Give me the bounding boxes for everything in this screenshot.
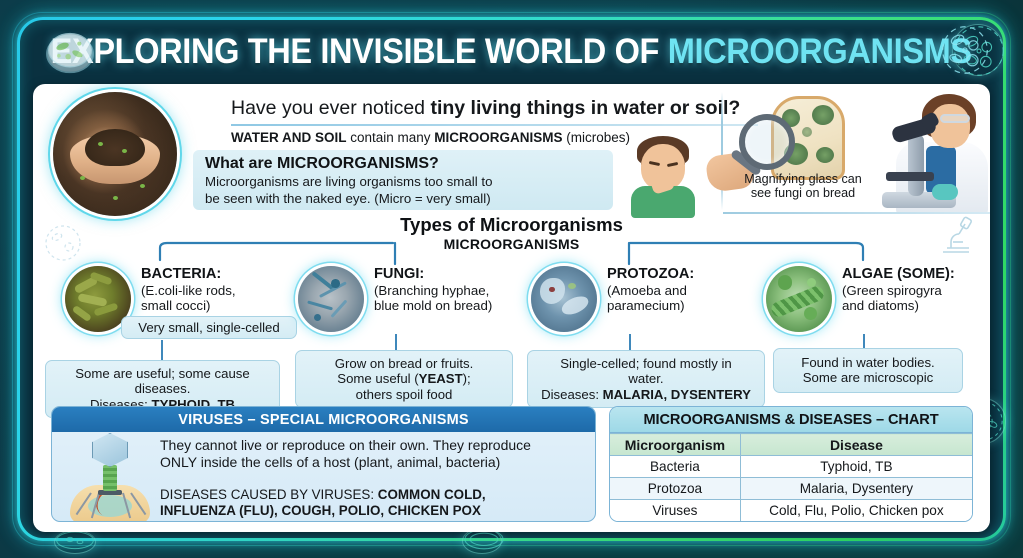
intro-sub-end: (microbes): [563, 130, 631, 145]
badge-bacteria: Very small, single-celled: [121, 316, 297, 339]
type-detail-fungi-l2: blue mold on bread): [374, 298, 549, 313]
hands-holding-soil-photo: [53, 92, 177, 216]
table-cell-organism: Viruses: [610, 500, 740, 522]
viruses-panel: VIRUSES – SPECIAL MICROORGANISMS They ca…: [51, 406, 596, 522]
diseases-chart-panel: MICROORGANISMS & DISEASES – CHART Microo…: [609, 406, 973, 522]
fact-bacteria-l1: Some are useful; some cause diseases.: [52, 366, 273, 397]
fungi-hyphae-circle-icon: [298, 266, 364, 332]
bacteriophage-icon: [70, 433, 150, 521]
magnifier-caption-line1: Magnifying glass can: [733, 172, 873, 186]
type-detail-algae-l2: and diatoms): [842, 298, 990, 313]
viruses-body-l1: They cannot live or reproduce on their o…: [160, 437, 588, 454]
viruses-diseases-text: DISEASES CAUSED BY VIRUSES: COMMON COLD,…: [160, 487, 590, 519]
type-detail-algae-l1: (Green spirogyra: [842, 283, 990, 298]
intro-question-plain: Have you ever noticed: [231, 97, 430, 119]
table-row: Viruses Cold, Flu, Polio, Chicken pox: [610, 500, 972, 522]
table-cell-disease: Typhoid, TB: [740, 456, 972, 478]
type-detail-protozoa-l2: paramecium): [607, 298, 782, 313]
what-box-line1: Microorganisms are living organisms too …: [205, 174, 601, 189]
fact-protozoa-l3: Diseases: MALARIA, DYSENTERY: [534, 387, 758, 402]
table-row: Protozoa Malaria, Dysentery: [610, 478, 972, 500]
table-header-microorganism: Microorganism: [610, 434, 740, 456]
fact-fungi-l3: others spoil food: [302, 387, 506, 402]
intro-sub-bold1: WATER AND SOIL: [231, 130, 347, 145]
viruses-diseases-l1: DISEASES CAUSED BY VIRUSES: COMMON COLD,: [160, 487, 590, 503]
type-detail-bacteria: (E.coli-like rods, small cocci): [141, 283, 316, 314]
fact-algae-l2: Some are microscopic: [780, 370, 956, 385]
intro-sub-bold2: MICROORGANISMS: [434, 130, 562, 145]
types-root-label: MICROORGANISMS: [33, 236, 990, 252]
fact-protozoa-l1: Single-celled; found mostly in: [534, 356, 758, 371]
what-are-microorganisms-box: What are MICROORGANISMS? Microorganisms …: [193, 150, 613, 210]
diseases-chart-table: Microorganism Disease Bacteria Typhoid, …: [610, 433, 972, 522]
table-cell-disease: Cold, Flu, Polio, Chicken pox: [740, 500, 972, 522]
table-header-row: Microorganism Disease: [610, 434, 972, 456]
chart-title: MICROORGANISMS & DISEASES – CHART: [610, 407, 972, 433]
algae-spirogyra-circle-icon: [766, 266, 832, 332]
fact-fungi-l1: Grow on bread or fruits.: [302, 356, 506, 371]
main-content-panel: Have you ever noticed tiny living things…: [33, 84, 990, 532]
type-detail-fungi: (Branching hyphae, blue mold on bread): [374, 283, 549, 314]
type-name-bacteria: BACTERIA:: [141, 266, 311, 282]
what-box-line2: be seen with the naked eye. (Micro = ver…: [205, 191, 601, 206]
type-detail-protozoa: (Amoeba and paramecium): [607, 283, 782, 314]
petri-dish-icon: [42, 26, 98, 78]
fact-box-protozoa: Single-celled; found mostly in water. Di…: [527, 350, 765, 408]
viruses-panel-header: VIRUSES – SPECIAL MICROORGANISMS: [52, 407, 595, 432]
stem-bacteria: [161, 340, 163, 362]
scientist-at-microscope-illustration: [878, 88, 990, 218]
table-cell-disease: Malaria, Dysentery: [740, 478, 972, 500]
protozoa-amoeba-circle-icon: [531, 266, 597, 332]
type-detail-fungi-l1: (Branching hyphae,: [374, 283, 549, 298]
magnifier-caption: Magnifying glass can see fungi on bread: [733, 172, 873, 201]
page-title: EXPLORING THE INVISIBLE WORLD OF MICROOR…: [51, 32, 972, 72]
type-name-protozoa: PROTOZOA:: [607, 266, 777, 282]
fact-algae-l1: Found in water bodies.: [780, 355, 956, 370]
header-vertical-divider: [721, 92, 723, 210]
type-name-algae: ALGAE (SOME):: [842, 266, 990, 282]
table-header-disease: Disease: [740, 434, 972, 456]
page-title-main: EXPLORING THE INVISIBLE WORLD OF: [51, 32, 668, 71]
viruses-diseases-l2: INFLUENZA (FLU), COUGH, POLIO, CHICKEN P…: [160, 503, 590, 519]
intro-divider: [231, 124, 758, 126]
table-row: Bacteria Typhoid, TB: [610, 456, 972, 478]
types-section-title: Types of Microorganisms: [33, 214, 990, 236]
decor-glow-circle-bottomleft: [54, 530, 96, 554]
intro-question-bold: tiny living things in water or soil?: [430, 97, 740, 119]
type-detail-bacteria-l2: small cocci): [141, 298, 316, 313]
page-title-accent: MICROORGANISMS: [668, 32, 972, 71]
viruses-body-l2: ONLY inside the cells of a host (plant, …: [160, 454, 588, 471]
badge-bacteria-text: Very small, single-celled: [138, 320, 279, 335]
page-title-bar: EXPLORING THE INVISIBLE WORLD OF MICROOR…: [30, 24, 993, 80]
child-rubbing-eye-illustration: [625, 132, 701, 216]
germ-cluster-icon-title: [937, 24, 993, 76]
fact-box-algae: Found in water bodies. Some are microsco…: [773, 348, 963, 393]
fact-protozoa-l2: water.: [534, 371, 758, 386]
table-cell-organism: Bacteria: [610, 456, 740, 478]
intro-question: Have you ever noticed tiny living things…: [231, 98, 771, 120]
table-cell-organism: Protozoa: [610, 478, 740, 500]
fact-box-fungi: Grow on bread or fruits. Some useful (YE…: [295, 350, 513, 408]
what-box-title: What are MICROORGANISMS?: [205, 155, 601, 173]
type-detail-bacteria-l1: (E.coli-like rods,: [141, 283, 316, 298]
viruses-body-text: They cannot live or reproduce on their o…: [160, 437, 588, 472]
intro-subtitle: WATER AND SOIL contain many MICROORGANIS…: [231, 130, 791, 145]
magnifier-caption-line2: see fungi on bread: [733, 186, 873, 200]
type-detail-protozoa-l1: (Amoeba and: [607, 283, 782, 298]
type-detail-algae: (Green spirogyra and diatoms): [842, 283, 990, 314]
intro-sub-mid: contain many: [347, 130, 435, 145]
type-name-fungi: FUNGI:: [374, 266, 544, 282]
fact-fungi-l2: Some useful (YEAST);: [302, 371, 506, 386]
